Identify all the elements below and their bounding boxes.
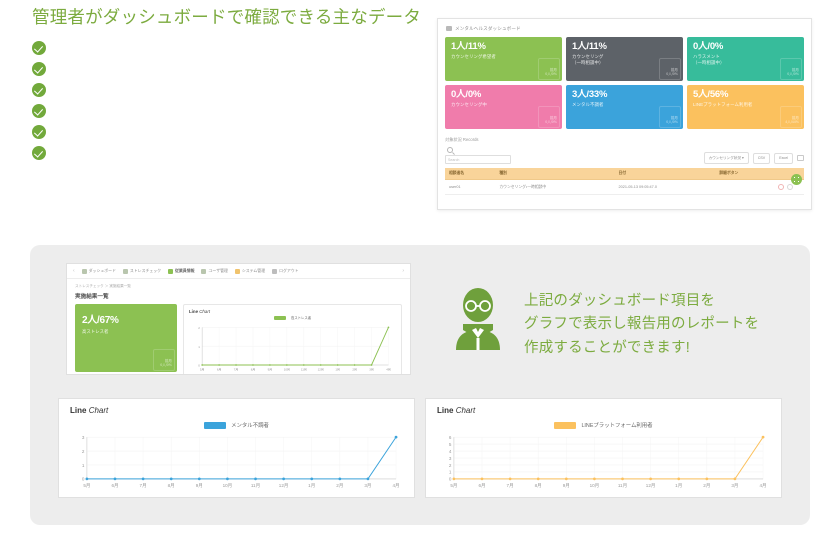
stat-corner-bottom: 0人/0% xyxy=(545,120,557,125)
svg-text:2月: 2月 xyxy=(703,483,710,489)
check-circle-icon xyxy=(32,41,46,55)
callout-line: グラフで表示し報告用のレポートを xyxy=(524,313,759,336)
stat-card[interactable]: 5人/56%LINEプラットフォーム利用者前月4人/44% xyxy=(687,85,804,129)
table-cell: カウンセリング・一時相談中 xyxy=(495,180,614,195)
callout-message: 上記のダッシュボード項目をグラフで表示し報告用のレポートを作成することができます… xyxy=(452,288,759,360)
chart-canvas: 01234565月6月7月8月9月10月11月12月1月2月3月4月 xyxy=(436,431,771,493)
stat-corner-bottom: 4人/44% xyxy=(785,120,799,125)
delete-icon[interactable] xyxy=(778,184,784,190)
list-item xyxy=(32,98,432,118)
feature-bullet-list xyxy=(32,35,432,160)
list-item xyxy=(32,77,432,97)
svg-text:11月: 11月 xyxy=(251,483,260,489)
svg-text:8月: 8月 xyxy=(535,483,542,489)
table-column-header[interactable]: 相談者名 xyxy=(445,168,495,180)
legend-label: メンタル不調者 xyxy=(231,421,269,429)
svg-text:1: 1 xyxy=(449,470,452,475)
svg-text:9月: 9月 xyxy=(196,483,203,489)
dashboard-title: メンタルヘルスダッシュボード xyxy=(455,26,521,32)
svg-text:0: 0 xyxy=(449,477,452,482)
breadcrumb: ストレスチェック ＞ 実施結果一覧 xyxy=(67,279,410,289)
stat-corner: 前月4人/44% xyxy=(785,116,799,125)
nav-item-4[interactable]: ユーザ管理 xyxy=(201,268,227,274)
stat-card-grid: 1人/11%カウンセリング希望者前月0人/0%1人/11%カウンセリング（一時相… xyxy=(438,34,811,133)
users-icon xyxy=(168,269,173,274)
svg-text:1: 1 xyxy=(198,345,200,349)
print-icon[interactable] xyxy=(797,155,804,161)
svg-text:1月: 1月 xyxy=(308,483,315,489)
nav-prev-icon[interactable]: ‹ xyxy=(73,268,75,274)
nav-item-label: ダッシュボード xyxy=(89,268,116,274)
search-input[interactable]: Search xyxy=(445,155,511,164)
legend-swatch xyxy=(274,316,286,320)
table-cell xyxy=(715,180,774,195)
nav-item-label: ログアウト xyxy=(279,268,298,274)
svg-text:4月: 4月 xyxy=(386,368,391,372)
svg-text:3: 3 xyxy=(82,435,85,440)
chart-plot-area: LINEプラットフォーム利用者 01234565月6月7月8月9月10月11月1… xyxy=(426,415,781,493)
gear-icon xyxy=(235,269,240,274)
excel-export-button[interactable]: Excel xyxy=(774,153,793,164)
filter-dropdown[interactable]: カウンセリング状況 ▾ xyxy=(704,152,749,164)
svg-text:11月: 11月 xyxy=(301,368,307,372)
line-chart-mental: Line Chart メンタル不調者 01235月6月7月8月9月10月11月1… xyxy=(58,398,415,498)
svg-text:6: 6 xyxy=(449,435,452,440)
callout-line: 上記のダッシュボード項目を xyxy=(524,290,759,313)
svg-text:10月: 10月 xyxy=(223,483,233,489)
slide-root: 管理者がダッシュボードで確認できる主なデータ メンタルヘルスダッシュボード 1人… xyxy=(0,0,840,535)
table-cell: user01 xyxy=(445,180,495,195)
list-item xyxy=(32,35,432,55)
csv-export-button[interactable]: CSV xyxy=(753,153,770,164)
chart-title: Line Chart xyxy=(426,399,781,415)
stat-label: 高ストレス者 xyxy=(82,329,170,335)
grid-toggle-icon[interactable] xyxy=(791,174,802,185)
stat-corner: 前月0人/0% xyxy=(666,68,678,77)
nav-item-label: 従業員情報 xyxy=(175,268,194,274)
dashboard-screenshot: メンタルヘルスダッシュボード 1人/11%カウンセリング希望者前月0人/0%1人… xyxy=(437,18,812,210)
records-table: 相談者名種別日付詳細ボタン user01カウンセリング・一時相談中2021-05… xyxy=(445,168,804,195)
svg-text:5月: 5月 xyxy=(83,483,90,489)
app-navbar: ‹ ダッシュボードストレスチェック従業員情報ユーザ管理システム管理ログアウト › xyxy=(67,264,410,279)
nav-item-1[interactable]: ダッシュボード xyxy=(82,268,116,274)
svg-text:3: 3 xyxy=(449,456,452,461)
nav-item-2[interactable]: ストレスチェック xyxy=(123,268,161,274)
search-box[interactable]: Search xyxy=(445,147,511,164)
check-circle-icon xyxy=(32,125,46,139)
mini-chart-plot: 0125月6月7月8月9月10月11月12月1月2月3月4月 xyxy=(189,320,396,375)
stat-card[interactable]: 1人/11%カウンセリング希望者前月0人/0% xyxy=(445,37,562,81)
svg-text:6月: 6月 xyxy=(478,483,485,489)
stat-card[interactable]: 3人/33%メンタル不調者前月0人/0% xyxy=(566,85,683,129)
svg-text:6月: 6月 xyxy=(217,368,222,372)
svg-text:12月: 12月 xyxy=(646,483,656,489)
stat-corner-bottom: 0人/0% xyxy=(545,72,557,77)
chart-plot-area: メンタル不調者 01235月6月7月8月9月10月11月12月1月2月3月4月 xyxy=(59,415,414,493)
svg-text:2: 2 xyxy=(449,463,452,468)
stat-corner: 前月0人/0% xyxy=(666,116,678,125)
stat-corner: 前月 0人/0% xyxy=(160,359,172,368)
table-row[interactable]: user01カウンセリング・一時相談中2021-05-13 09:05:47.0 xyxy=(445,180,804,195)
chart-title: Line Chart xyxy=(59,399,414,415)
svg-text:3月: 3月 xyxy=(731,483,738,489)
page-title: 管理者がダッシュボードで確認できる主なデータ xyxy=(32,6,432,30)
svg-text:12月: 12月 xyxy=(279,483,289,489)
svg-text:1月: 1月 xyxy=(675,483,682,489)
stat-corner: 前月0人/0% xyxy=(545,116,557,125)
nav-item-label: システム管理 xyxy=(242,268,265,274)
svg-text:8月: 8月 xyxy=(168,483,175,489)
chart-icon xyxy=(123,269,128,274)
svg-text:2月: 2月 xyxy=(336,483,343,489)
check-circle-icon xyxy=(32,146,46,160)
mini-chart-title: Line Chart xyxy=(189,309,396,314)
stat-value: 1人/11% xyxy=(451,42,556,52)
svg-text:0: 0 xyxy=(82,477,85,482)
svg-text:2: 2 xyxy=(82,449,85,454)
dashboard-title-bar: メンタルヘルスダッシュボード xyxy=(438,19,811,34)
svg-text:4月: 4月 xyxy=(759,483,766,489)
dashboard-icon xyxy=(82,269,87,274)
stat-value: 5人/56% xyxy=(693,90,798,100)
stat-value: 0人/0% xyxy=(451,90,556,100)
check-circle-icon xyxy=(32,83,46,97)
stat-corner-bottom: 0人/0% xyxy=(666,120,678,125)
person-with-glasses-icon xyxy=(452,288,504,350)
table-header-row: 相談者名種別日付詳細ボタン xyxy=(445,168,804,180)
svg-text:3月: 3月 xyxy=(369,368,374,372)
stat-value: 1人/11% xyxy=(572,42,677,52)
list-item xyxy=(32,140,432,160)
nav-item-label: ストレスチェック xyxy=(130,268,161,274)
person-icon xyxy=(201,269,206,274)
stat-corner-bottom: 0人/0% xyxy=(666,72,678,77)
svg-text:1: 1 xyxy=(82,463,85,468)
svg-text:11月: 11月 xyxy=(618,483,627,489)
stat-value: 2人/67% xyxy=(82,311,170,326)
legend-label: 高ストレス者 xyxy=(291,315,311,320)
svg-text:4: 4 xyxy=(449,449,452,454)
svg-text:5月: 5月 xyxy=(450,483,457,489)
records-section: 対象状況 Records Search カウンセリング状況 ▾ CSV Exce… xyxy=(438,133,811,195)
chart-canvas: 01235月6月7月8月9月10月11月12月1月2月3月4月 xyxy=(69,431,404,493)
svg-text:9月: 9月 xyxy=(268,368,273,372)
callout-text: 上記のダッシュボード項目をグラフで表示し報告用のレポートを作成することができます… xyxy=(524,288,759,360)
export-buttons: カウンセリング状況 ▾ CSV Excel xyxy=(704,152,804,164)
svg-text:7月: 7月 xyxy=(507,483,514,489)
table-column-header[interactable]: 種別 xyxy=(495,168,614,180)
mini-line-chart-card: Line Chart 高ストレス者0125月6月7月8月9月10月11月12月1… xyxy=(183,304,402,375)
svg-text:6月: 6月 xyxy=(111,483,118,489)
edit-icon[interactable] xyxy=(787,184,793,190)
check-circle-icon xyxy=(32,104,46,118)
svg-text:8月: 8月 xyxy=(251,368,256,372)
svg-text:7月: 7月 xyxy=(234,368,239,372)
nav-item-5[interactable]: システム管理 xyxy=(235,268,265,274)
list-item xyxy=(32,56,432,76)
nav-item-3[interactable]: 従業員情報 xyxy=(168,268,194,274)
svg-text:5月: 5月 xyxy=(200,368,205,372)
svg-text:2月: 2月 xyxy=(352,368,357,372)
svg-text:9月: 9月 xyxy=(563,483,570,489)
nav-next-icon[interactable]: › xyxy=(402,268,404,274)
table-cell: 2021-05-13 09:05:47.0 xyxy=(615,180,716,195)
legend-label: LINEプラットフォーム利用者 xyxy=(581,421,652,429)
table-body: user01カウンセリング・一時相談中2021-05-13 09:05:47.0 xyxy=(445,180,804,195)
dashboard-icon xyxy=(446,26,452,31)
table-cell xyxy=(774,180,804,195)
list-item xyxy=(32,119,432,139)
svg-text:2: 2 xyxy=(198,326,200,330)
logout-icon xyxy=(272,269,277,274)
stat-value: 0人/0% xyxy=(693,42,798,52)
callout-line: 作成することができます! xyxy=(524,337,759,360)
table-column-header[interactable]: 日付 xyxy=(615,168,716,180)
stat-card-high-stress: 2人/67% 高ストレス者 前月 0人/0% xyxy=(75,304,177,372)
legend-swatch xyxy=(204,422,226,429)
stat-card[interactable]: 0人/0%カウンセリング中前月0人/0% xyxy=(445,85,562,129)
check-circle-icon xyxy=(32,62,46,76)
chart-legend: LINEプラットフォーム利用者 xyxy=(436,421,771,429)
svg-text:1月: 1月 xyxy=(335,368,340,372)
chart-legend: メンタル不調者 xyxy=(69,421,404,429)
svg-text:10月: 10月 xyxy=(590,483,600,489)
line-chart-line-platform: Line Chart LINEプラットフォーム利用者 01234565月6月7月… xyxy=(425,398,782,498)
stat-value: 3人/33% xyxy=(572,90,677,100)
table-toolbar: Search カウンセリング状況 ▾ CSV Excel xyxy=(445,147,804,164)
svg-text:12月: 12月 xyxy=(318,368,324,372)
stress-check-screenshot: ‹ ダッシュボードストレスチェック従業員情報ユーザ管理システム管理ログアウト ›… xyxy=(66,263,411,375)
stat-corner-bottom: 0人/0% xyxy=(787,72,799,77)
svg-text:10月: 10月 xyxy=(284,368,290,372)
nav-item-6[interactable]: ログアウト xyxy=(272,268,298,274)
legend-swatch xyxy=(554,422,576,429)
app-page-title: 実施結果一覧 xyxy=(67,289,410,304)
search-icon xyxy=(447,147,453,153)
nav-item-label: ユーザ管理 xyxy=(208,268,227,274)
records-title: 対象状況 Records xyxy=(445,137,804,143)
svg-text:5: 5 xyxy=(449,442,452,447)
app-content: 2人/67% 高ストレス者 前月 0人/0% Line Chart 高ストレス者… xyxy=(67,304,410,375)
stat-corner: 前月0人/0% xyxy=(787,68,799,77)
svg-text:7月: 7月 xyxy=(140,483,147,489)
table-column-header[interactable]: 詳細ボタン xyxy=(715,168,774,180)
stat-card[interactable]: 0人/0%ハラスメント（一時相談中）前月0人/0% xyxy=(687,37,804,81)
stat-corner: 前月0人/0% xyxy=(545,68,557,77)
feature-list-section: 管理者がダッシュボードで確認できる主なデータ xyxy=(32,6,432,161)
stat-card[interactable]: 1人/11%カウンセリング（一時相談中）前月0人/0% xyxy=(566,37,683,81)
svg-text:4月: 4月 xyxy=(392,483,399,489)
svg-text:3月: 3月 xyxy=(364,483,371,489)
